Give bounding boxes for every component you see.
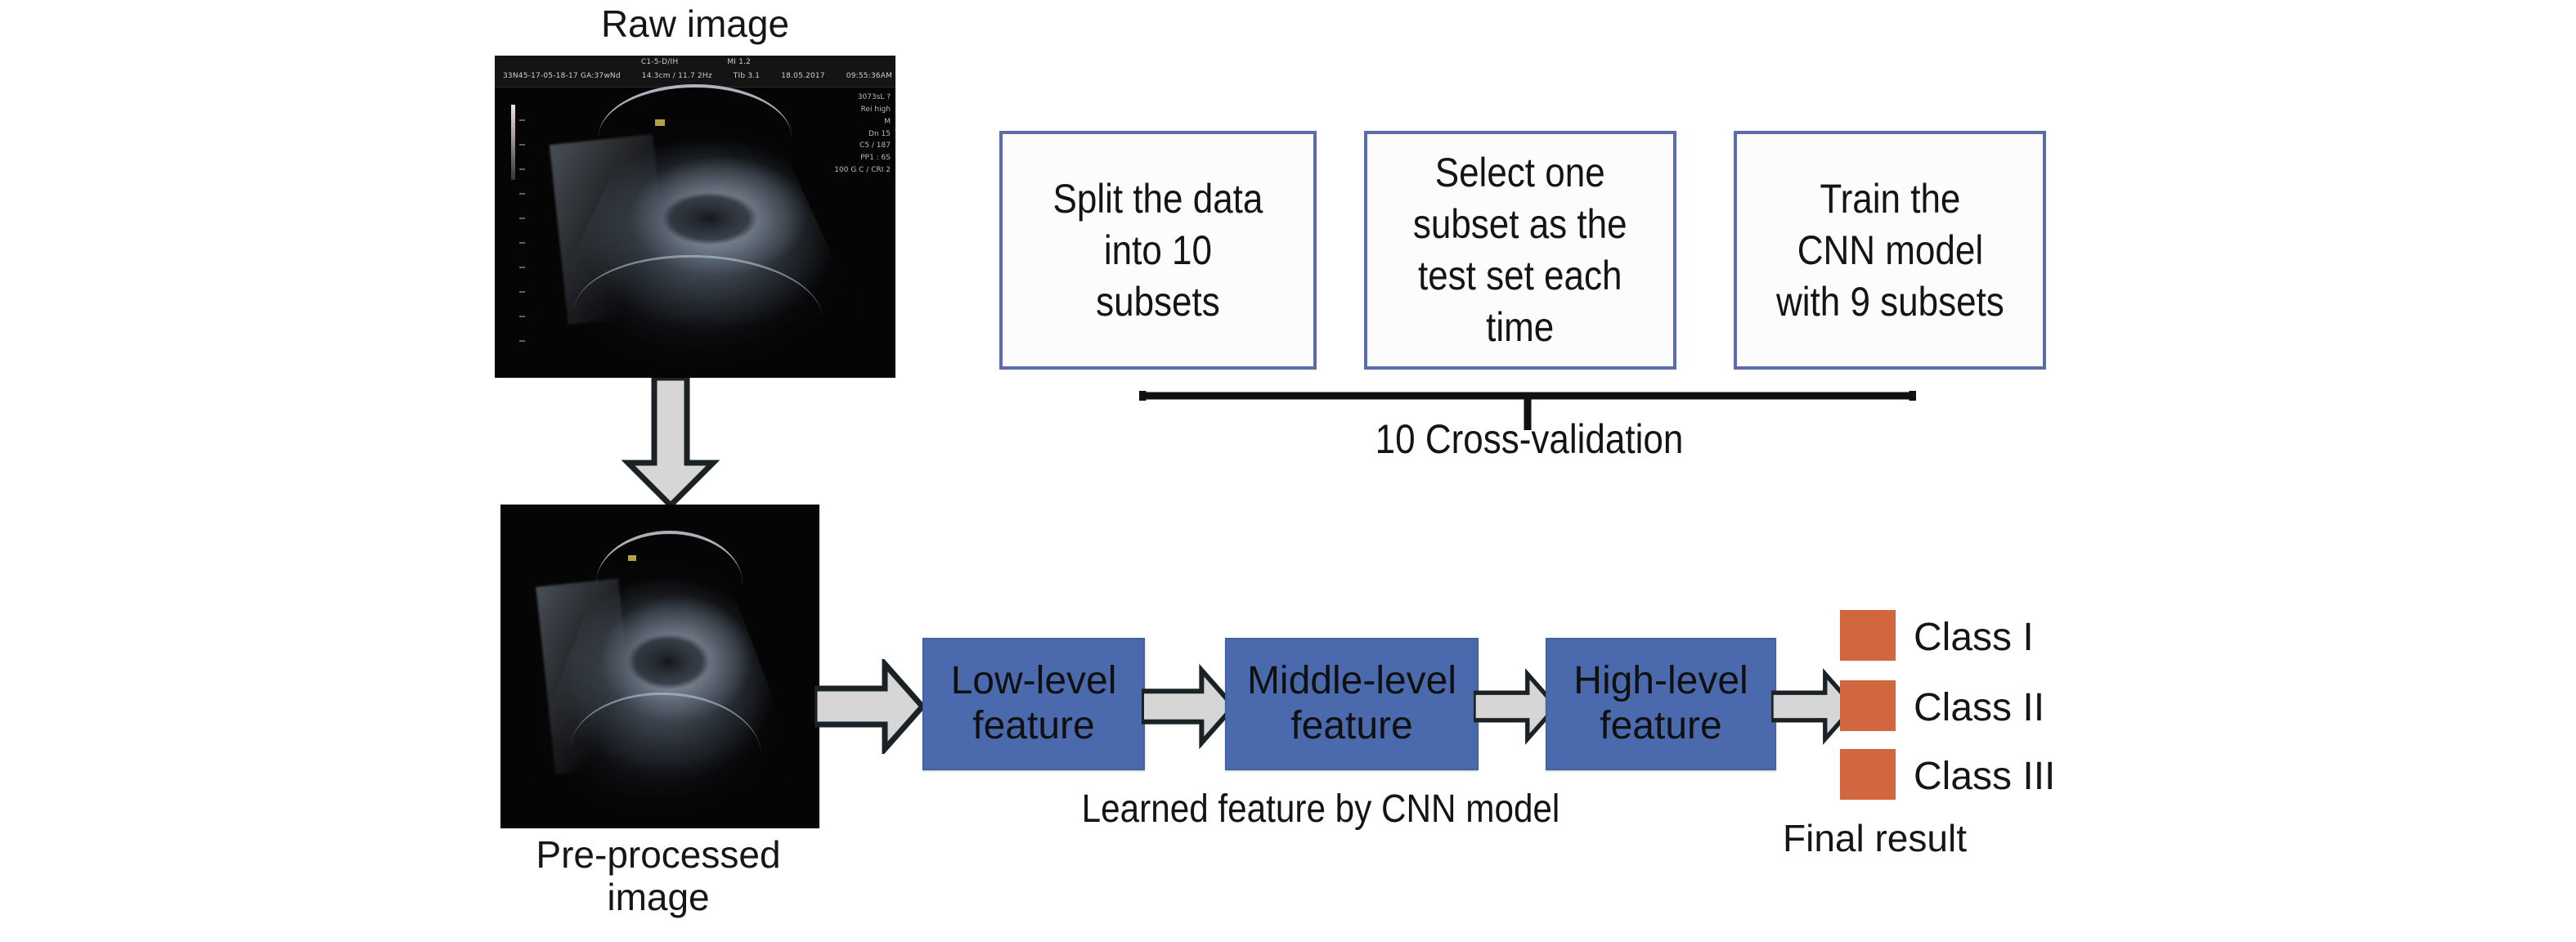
pipeline-arrow-2 <box>1142 659 1236 754</box>
cv-step-text: Train the CNN model with 9 subsets <box>1771 173 2008 328</box>
cross-validation-label: 10 Cross-validation <box>1292 415 1767 463</box>
ultrasound-readout-line: M <box>834 116 891 128</box>
cv-step-box-train[interactable]: Train the CNN model with 9 subsets <box>1734 131 2046 370</box>
ultrasound-readout-line: PP1 : 6S <box>834 152 891 164</box>
class-swatch-2 <box>1840 680 1896 731</box>
class-swatch-3 <box>1840 749 1896 800</box>
ultrasound-readout-line: Dn 15 <box>834 128 891 141</box>
ultrasound-readout-line: C5 / 187 <box>834 140 891 152</box>
feature-box-text: High-level feature <box>1573 659 1748 748</box>
ultrasound-skull-arc <box>599 84 791 139</box>
ultrasound-mi-value: MI 1.2 <box>727 58 751 66</box>
feature-box-low-level[interactable]: Low-level feature <box>922 638 1145 770</box>
ultrasound-header-top-row: C1-5-D/IH MI 1.2 <box>503 58 889 66</box>
ultrasound-time: 09:55:36AM <box>846 72 892 80</box>
ultrasound-header-bar: C1-5-D/IH MI 1.2 33N45-17-05-18-17 GA:37… <box>495 56 895 87</box>
cv-step-text: Select one subset as the test set each t… <box>1409 147 1631 353</box>
feature-box-text: Low-level feature <box>951 659 1117 748</box>
ultrasound-side-readout: 3073sL ? Rei high M Dn 15 C5 / 187 PP1 :… <box>834 92 891 177</box>
class-label-1: Class I <box>1914 615 2034 660</box>
pipeline-arrow-1 <box>815 659 926 754</box>
ultrasound-header-second-row: 33N45-17-05-18-17 GA:37wNd 14.3cm / 11.7… <box>503 72 889 80</box>
ultrasound-patient-id: 33N45-17-05-18-17 GA:37wNd <box>503 72 621 80</box>
ultrasound-date: 18.05.2017 <box>781 72 825 80</box>
ultrasound-depth-ticks <box>519 113 531 350</box>
ultrasound-tissue-ridge <box>550 134 672 325</box>
feature-box-middle-level[interactable]: Middle-level feature <box>1225 638 1479 770</box>
cv-step-box-select[interactable]: Select one subset as the test set each t… <box>1364 131 1676 370</box>
ultrasound-probe-id: C1-5-D/IH <box>641 58 678 66</box>
ultrasound-tib-value: TIb 3.1 <box>734 72 760 80</box>
class-label-2: Class II <box>1914 685 2044 730</box>
feature-box-text: Middle-level feature <box>1247 659 1456 748</box>
cv-step-box-split[interactable]: Split the data into 10 subsets <box>999 131 1317 370</box>
ultrasound-readout-line: 3073sL ? <box>834 92 891 104</box>
raw-image-title: Raw image <box>491 3 900 46</box>
learned-feature-caption: Learned feature by CNN model <box>1012 787 1631 832</box>
preprocessed-image-caption: Pre-processed image <box>478 834 838 918</box>
class-swatch-1 <box>1840 610 1896 661</box>
feature-box-high-level[interactable]: High-level feature <box>1546 638 1776 770</box>
ultrasound-readout-line: 100 G C / CRI 2 <box>834 164 891 177</box>
class-label-3: Class III <box>1914 754 2055 799</box>
ultrasound-gain-bar <box>511 105 515 180</box>
raw-ultrasound-image: C1-5-D/IH MI 1.2 33N45-17-05-18-17 GA:37… <box>495 56 895 378</box>
final-result-caption: Final result <box>1783 818 2110 860</box>
preprocessing-down-arrow <box>613 378 728 509</box>
figure-canvas: Raw image C1-5-D/IH MI 1.2 33N45-17-05-1… <box>0 0 2576 942</box>
preprocessed-ultrasound-image <box>500 505 819 828</box>
cv-step-text: Split the data into 10 subsets <box>1048 173 1267 328</box>
ultrasound-readout-line: Rei high <box>834 104 891 116</box>
ultrasound-depth-freq: 14.3cm / 11.7 2Hz <box>642 72 712 80</box>
